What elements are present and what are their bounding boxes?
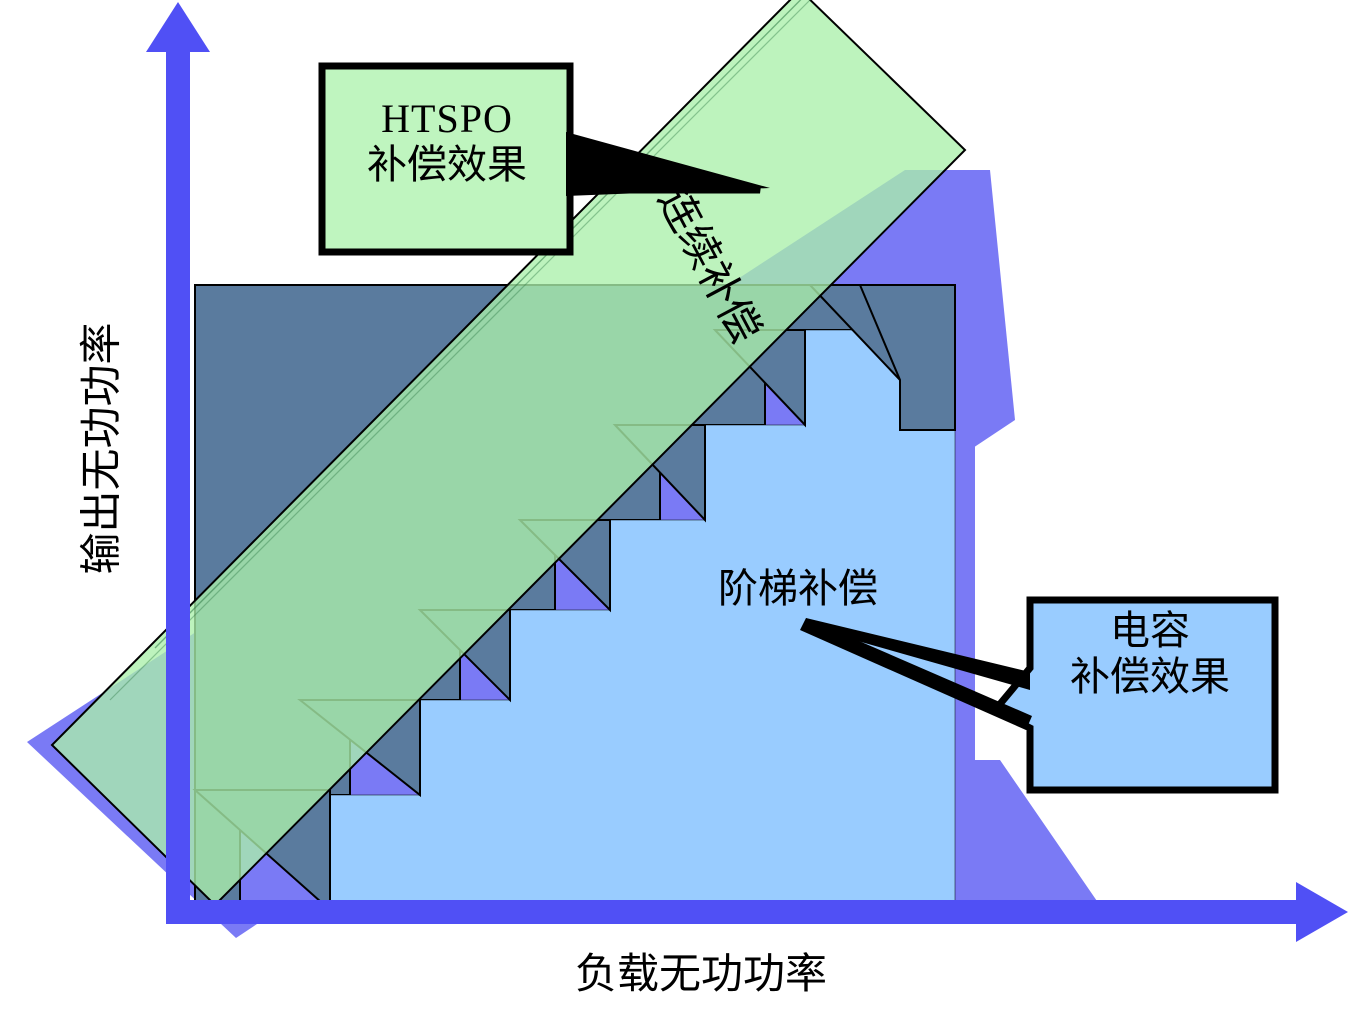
x-axis-label: 负载无功功率 (575, 940, 827, 1001)
y-axis-shaft (166, 36, 190, 920)
capacitor-callout-shape[interactable] (995, 600, 1275, 790)
capacitor-callout[interactable] (995, 600, 1275, 790)
x-axis-shaft (166, 900, 1308, 924)
compensation-comparison-diagram (0, 0, 1360, 1014)
x-axis-arrowhead (1296, 882, 1348, 942)
y-axis-arrowhead (146, 2, 210, 52)
step-compensation-label: 阶梯补偿 (718, 556, 878, 614)
diagram-canvas: 输出无功功率 负载无功功率 HTSPO 补偿效果 电容 补偿效果 阶梯补偿 连续… (0, 0, 1360, 1014)
y-axis-label: 输出无功功率 (68, 299, 129, 599)
